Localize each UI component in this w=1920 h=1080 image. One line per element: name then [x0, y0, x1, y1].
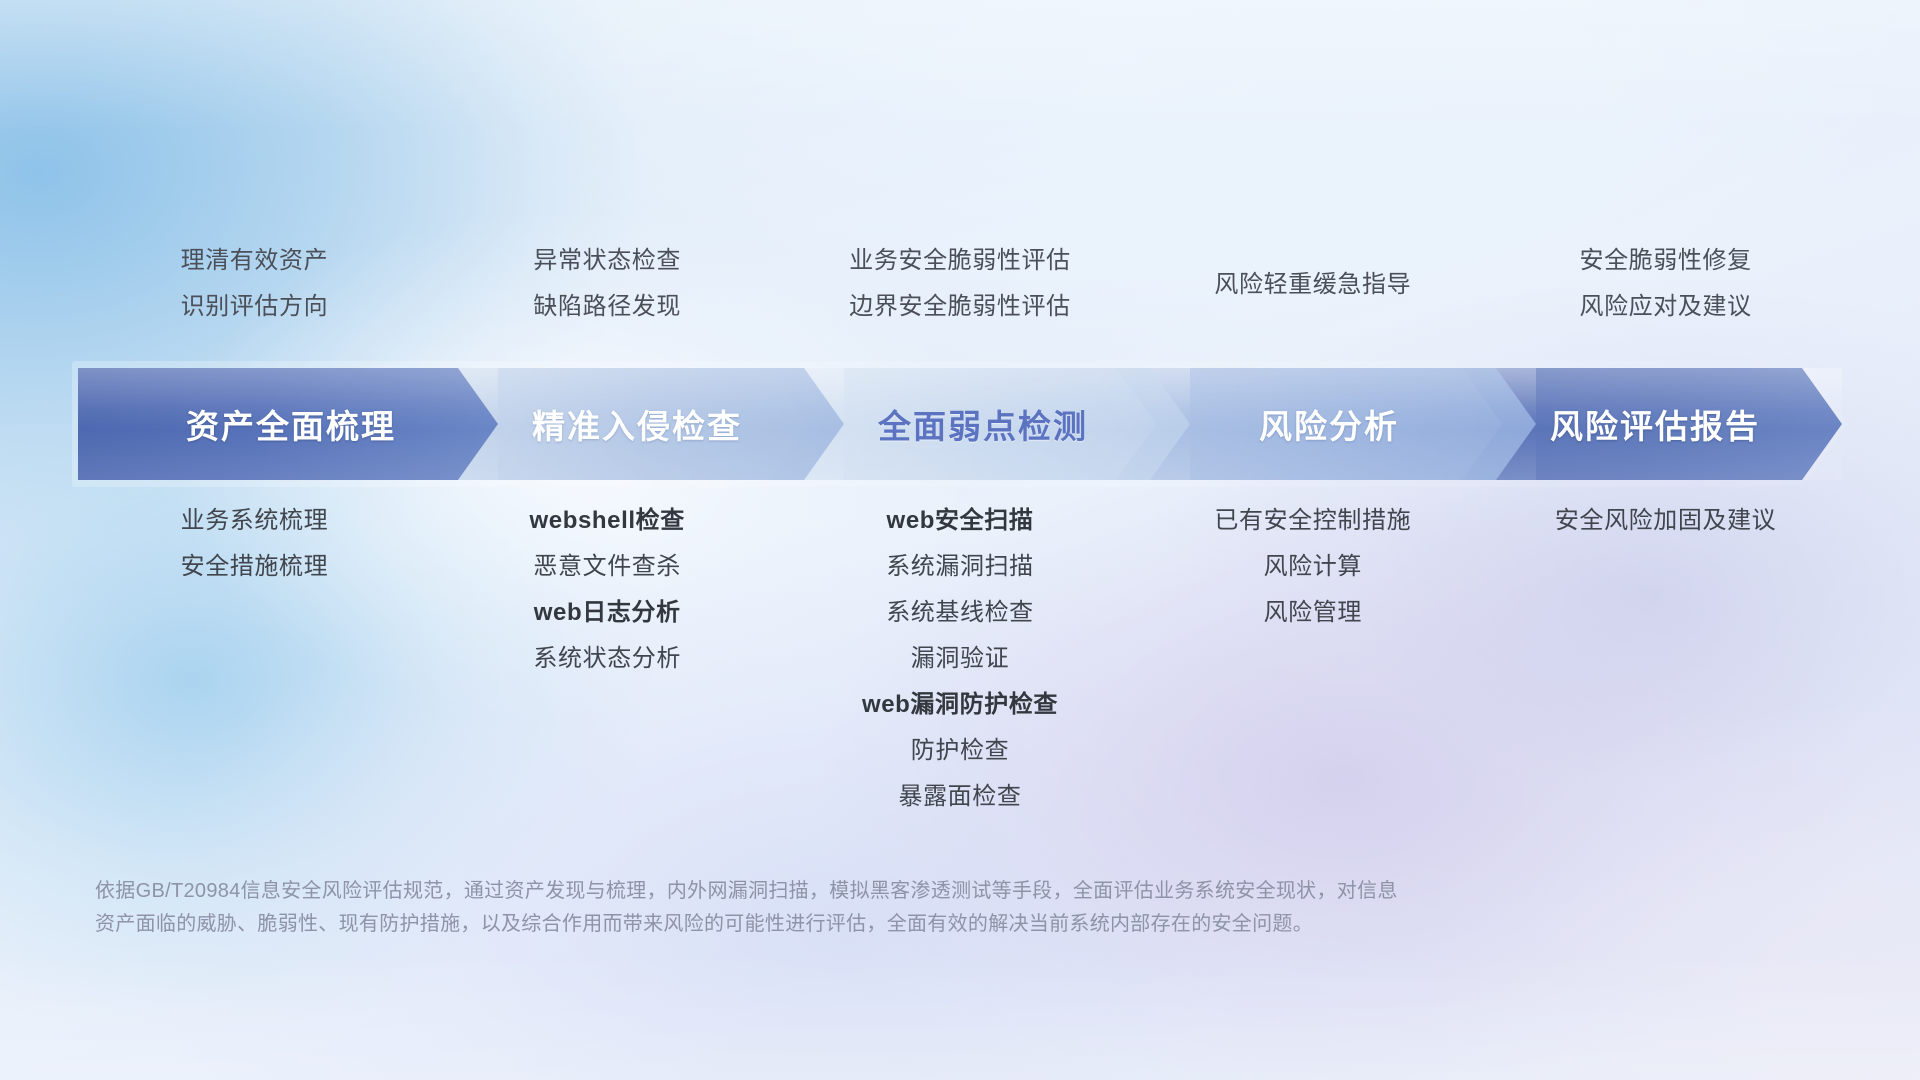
step-chevron-asset-inventory[interactable]: 资产全面梳理 — [78, 368, 498, 480]
top-note: 缺陷路径发现 — [431, 284, 784, 330]
footer-line-1: 依据GB/T20984信息安全风险评估规范，通过资产发现与梳理，内外网漏洞扫描，… — [95, 875, 1655, 908]
top-note: 安全脆弱性修复 — [1489, 238, 1842, 284]
step-label: 全面弱点检测 — [878, 400, 1088, 448]
bottom-items-col-4: 已有安全控制措施 风险计算 风险管理 — [1136, 498, 1489, 636]
bottom-items-col-2: webshell检查 恶意文件查杀 web日志分析 系统状态分析 — [431, 498, 784, 682]
step-label: 风险分析 — [1259, 400, 1399, 448]
list-item: 系统状态分析 — [431, 636, 784, 682]
list-item: 恶意文件查杀 — [431, 544, 784, 590]
slide-canvas: 理清有效资产 识别评估方向 异常状态检查 缺陷路径发现 业务安全脆弱性评估 边界… — [0, 0, 1920, 1080]
list-item: 安全风险加固及建议 — [1489, 498, 1842, 544]
bottom-items-col-1: 业务系统梳理 安全措施梳理 — [78, 498, 431, 590]
list-item: 已有安全控制措施 — [1136, 498, 1489, 544]
top-note: 理清有效资产 — [78, 238, 431, 284]
list-item: 系统基线检查 — [784, 590, 1137, 636]
top-note: 风险轻重缓急指导 — [1136, 262, 1489, 308]
top-notes-col-1: 理清有效资产 识别评估方向 — [78, 238, 431, 330]
list-item: 业务系统梳理 — [78, 498, 431, 544]
top-notes-col-2: 异常状态检查 缺陷路径发现 — [431, 238, 784, 330]
list-item: web漏洞防护检查 — [784, 682, 1137, 728]
list-item: 风险计算 — [1136, 544, 1489, 590]
footer-description: 依据GB/T20984信息安全风险评估规范，通过资产发现与梳理，内外网漏洞扫描，… — [95, 875, 1655, 941]
bottom-items-row: 业务系统梳理 安全措施梳理 webshell检查 恶意文件查杀 web日志分析 … — [78, 498, 1842, 820]
list-item: web安全扫描 — [784, 498, 1137, 544]
bottom-items-col-3: web安全扫描 系统漏洞扫描 系统基线检查 漏洞验证 web漏洞防护检查 防护检… — [784, 498, 1137, 820]
top-note: 业务安全脆弱性评估 — [784, 238, 1137, 284]
list-item: 系统漏洞扫描 — [784, 544, 1137, 590]
footer-line-2: 资产面临的威胁、脆弱性、现有防护措施，以及综合作用而带来风险的可能性进行评估，全… — [95, 908, 1655, 941]
top-note: 识别评估方向 — [78, 284, 431, 330]
step-label: 风险评估报告 — [1550, 400, 1760, 448]
step-label: 资产全面梳理 — [186, 400, 396, 448]
top-note: 异常状态检查 — [431, 238, 784, 284]
list-item: 暴露面检查 — [784, 774, 1137, 820]
list-item: webshell检查 — [431, 498, 784, 544]
bottom-items-col-5: 安全风险加固及建议 — [1489, 498, 1842, 544]
list-item: 安全措施梳理 — [78, 544, 431, 590]
top-notes-row: 理清有效资产 识别评估方向 异常状态检查 缺陷路径发现 业务安全脆弱性评估 边界… — [78, 238, 1842, 330]
list-item: web日志分析 — [431, 590, 784, 636]
list-item: 漏洞验证 — [784, 636, 1137, 682]
list-item: 防护检查 — [784, 728, 1137, 774]
top-notes-col-4: 风险轻重缓急指导 — [1136, 238, 1489, 284]
list-item: 风险管理 — [1136, 590, 1489, 636]
step-label: 精准入侵检查 — [532, 400, 742, 448]
process-arrow-banner: 资产全面梳理 精准入侵检查 全面弱点检测 风险分析 风险评估报告 — [78, 368, 1842, 480]
top-note: 风险应对及建议 — [1489, 284, 1842, 330]
top-note: 边界安全脆弱性评估 — [784, 284, 1137, 330]
top-notes-col-3: 业务安全脆弱性评估 边界安全脆弱性评估 — [784, 238, 1137, 330]
top-notes-col-5: 安全脆弱性修复 风险应对及建议 — [1489, 238, 1842, 330]
